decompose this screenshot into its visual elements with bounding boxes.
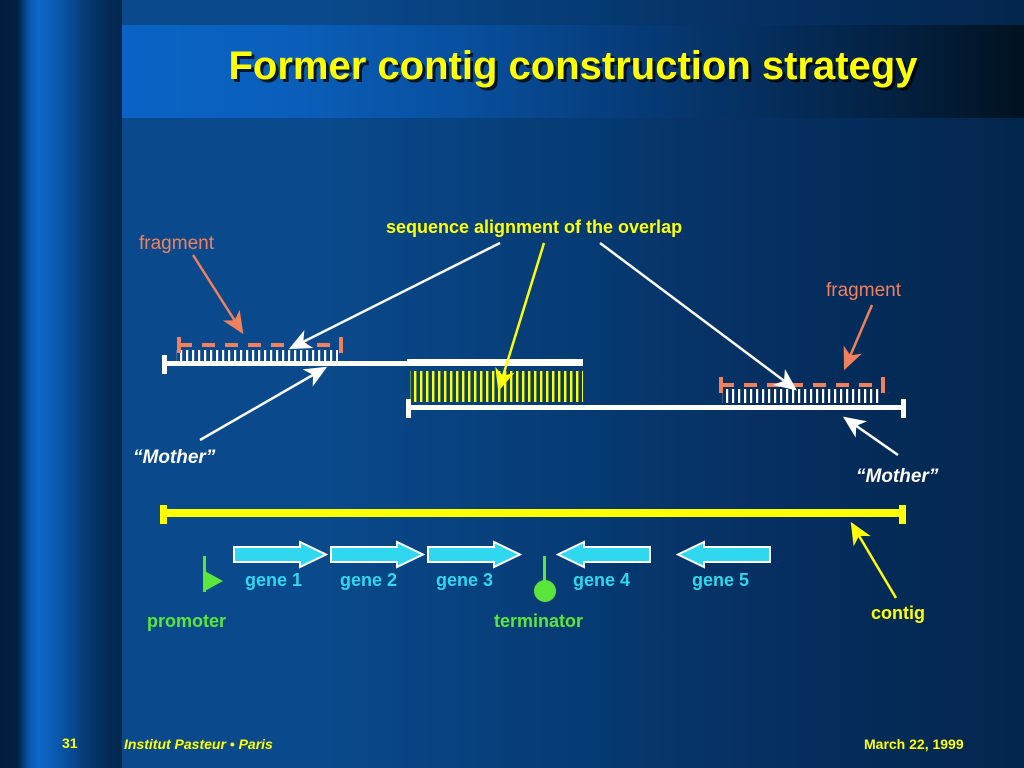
leader-alignment-left <box>291 243 500 348</box>
label-sequence-alignment: sequence alignment of the overlap <box>386 217 682 238</box>
leader-alignment-right <box>600 243 795 389</box>
label-mother-right: “Mother” <box>856 466 938 488</box>
gene-arrow-1 <box>234 542 326 567</box>
promoter-marker <box>203 556 223 592</box>
footer-date: March 22, 1999 <box>864 736 964 752</box>
label-gene-3: gene 3 <box>436 570 493 591</box>
diagram-svg <box>0 0 1024 768</box>
mother-sequence-left <box>162 337 583 374</box>
gene-arrow-2 <box>331 542 423 567</box>
footer-organization: Institut Pasteur • Paris <box>124 736 273 752</box>
leader-fragment-left <box>193 255 242 332</box>
contig-bar <box>160 505 906 524</box>
label-contig: contig <box>871 603 925 624</box>
leader-contig <box>852 524 896 598</box>
gene-arrow-3 <box>428 542 520 567</box>
label-fragment-left: fragment <box>139 233 214 255</box>
leader-fragment-right <box>845 305 872 368</box>
slide-canvas: Former contig construction strategy <box>0 0 1024 768</box>
footer-slide-number: 31 <box>62 735 78 751</box>
label-fragment-right: fragment <box>826 280 901 302</box>
label-terminator: terminator <box>494 611 583 632</box>
terminator-marker <box>534 556 556 602</box>
alignment-sequence-middle <box>406 359 906 418</box>
label-mother-left: “Mother” <box>133 447 215 469</box>
gene-arrow-5 <box>678 542 770 567</box>
leader-alignment-middle <box>499 243 544 389</box>
label-promoter: promoter <box>147 611 226 632</box>
label-gene-5: gene 5 <box>692 570 749 591</box>
gene-arrow-4 <box>558 542 650 567</box>
label-gene-1: gene 1 <box>245 570 302 591</box>
leader-mother-right <box>845 418 898 455</box>
leader-mother-left <box>200 368 325 440</box>
label-gene-2: gene 2 <box>340 570 397 591</box>
mother-sequence-right <box>719 377 885 403</box>
label-gene-4: gene 4 <box>573 570 630 591</box>
